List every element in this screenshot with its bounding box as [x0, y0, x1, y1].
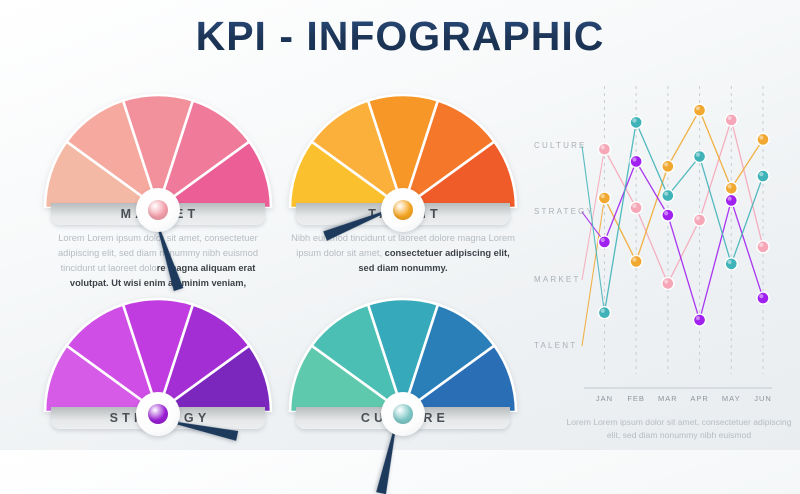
chart-data-point[interactable]	[757, 292, 769, 304]
chart-data-point[interactable]	[694, 314, 706, 326]
chart-y-label-strategy: STRATEGY	[534, 207, 594, 216]
kpi-line-chart[interactable]: CULTURESTRATEGYMARKETTALENTJANFEBMARAPRM…	[528, 84, 790, 404]
chart-y-label-culture: CULTURE	[534, 141, 587, 150]
chart-data-point[interactable]	[598, 192, 610, 204]
chart-data-point-highlight	[696, 106, 700, 110]
chart-data-point-highlight	[727, 184, 731, 188]
chart-data-point-highlight	[664, 162, 668, 166]
chart-data-point-highlight	[601, 309, 605, 313]
chart-data-point-highlight	[632, 157, 636, 161]
gauge-card-talent[interactable]: TALENTNibh euismod tincidunt ut laoreet …	[288, 93, 518, 225]
chart-x-label-may: MAY	[714, 394, 748, 403]
chart-y-label-talent: TALENT	[534, 341, 577, 350]
chart-data-point[interactable]	[630, 255, 642, 267]
chart-data-point[interactable]	[630, 202, 642, 214]
gauge-hub-culture	[381, 392, 425, 436]
chart-data-point-highlight	[601, 145, 605, 149]
gauge-card-culture[interactable]: CULTURE	[288, 297, 518, 429]
chart-data-point-highlight	[759, 294, 763, 298]
chart-x-label-jun: JUN	[746, 394, 780, 403]
chart-data-point-highlight	[696, 153, 700, 157]
chart-data-point[interactable]	[725, 258, 737, 270]
gauge-hub-center	[393, 200, 413, 220]
chart-data-point[interactable]	[598, 307, 610, 319]
gauge-hub-strategy	[136, 392, 180, 436]
chart-x-label-apr: APR	[683, 394, 717, 403]
chart-data-point-highlight	[664, 279, 668, 283]
chart-data-point-highlight	[632, 204, 636, 208]
chart-data-point-highlight	[727, 260, 731, 264]
gauge-hub-center	[393, 404, 413, 424]
chart-caption: Lorem Lorem ipsum dolor sit amet, consec…	[565, 416, 793, 443]
page-title: KPI - INFOGRAPHIC	[0, 13, 800, 60]
chart-data-point-highlight	[759, 243, 763, 247]
chart-data-point[interactable]	[757, 241, 769, 253]
chart-data-point-highlight	[727, 116, 731, 120]
gauge-hub-talent	[381, 188, 425, 232]
chart-x-label-jan: JAN	[587, 394, 621, 403]
chart-line-market	[604, 120, 763, 283]
gauge-culture: CULTURE	[288, 297, 518, 429]
chart-y-label-market: MARKET	[534, 275, 581, 284]
chart-data-point[interactable]	[662, 209, 674, 221]
chart-data-point[interactable]	[662, 160, 674, 172]
gauge-talent: TALENT	[288, 93, 518, 225]
chart-x-label-mar: MAR	[651, 394, 685, 403]
chart-data-point[interactable]	[694, 214, 706, 226]
chart-data-point-highlight	[601, 238, 605, 242]
chart-leader-line	[582, 198, 604, 346]
chart-data-point[interactable]	[757, 133, 769, 145]
gauge-card-strategy[interactable]: STRATEGY	[43, 297, 273, 429]
chart-data-point-highlight	[632, 257, 636, 261]
chart-data-point[interactable]	[757, 170, 769, 182]
chart-data-point[interactable]	[662, 190, 674, 202]
chart-data-point[interactable]	[694, 104, 706, 116]
chart-data-point[interactable]	[598, 236, 610, 248]
chart-data-point-highlight	[759, 135, 763, 139]
gauge-hub-center	[148, 404, 168, 424]
chart-x-label-feb: FEB	[619, 394, 653, 403]
chart-data-point[interactable]	[630, 155, 642, 167]
chart-data-point[interactable]	[630, 116, 642, 128]
chart-line-talent	[604, 110, 763, 261]
chart-data-point[interactable]	[725, 194, 737, 206]
gauge-card-market[interactable]: MARKETLorem Lorem ipsum dolor sit amet, …	[43, 93, 273, 225]
chart-data-point-highlight	[727, 196, 731, 200]
chart-data-point[interactable]	[725, 182, 737, 194]
chart-data-point[interactable]	[598, 143, 610, 155]
gauge-hub-market	[136, 188, 180, 232]
gauge-hub-center	[148, 200, 168, 220]
gauge-strategy: STRATEGY	[43, 297, 273, 429]
infographic-canvas: KPI - INFOGRAPHIC MARKETLorem Lorem ipsu…	[0, 0, 800, 450]
gauge-description-talent: Nibh euismod tincidunt ut laoreet dolore…	[288, 231, 518, 276]
chart-data-point-highlight	[696, 216, 700, 220]
chart-data-point[interactable]	[662, 277, 674, 289]
chart-data-point-highlight	[664, 192, 668, 196]
chart-data-point[interactable]	[694, 151, 706, 163]
chart-data-point-highlight	[759, 172, 763, 176]
chart-plot-area	[528, 84, 790, 404]
gauge-market: MARKET	[43, 93, 273, 225]
chart-data-point[interactable]	[725, 114, 737, 126]
chart-data-point-highlight	[696, 316, 700, 320]
chart-data-point-highlight	[632, 118, 636, 122]
chart-data-point-highlight	[664, 211, 668, 215]
chart-data-point-highlight	[601, 194, 605, 198]
